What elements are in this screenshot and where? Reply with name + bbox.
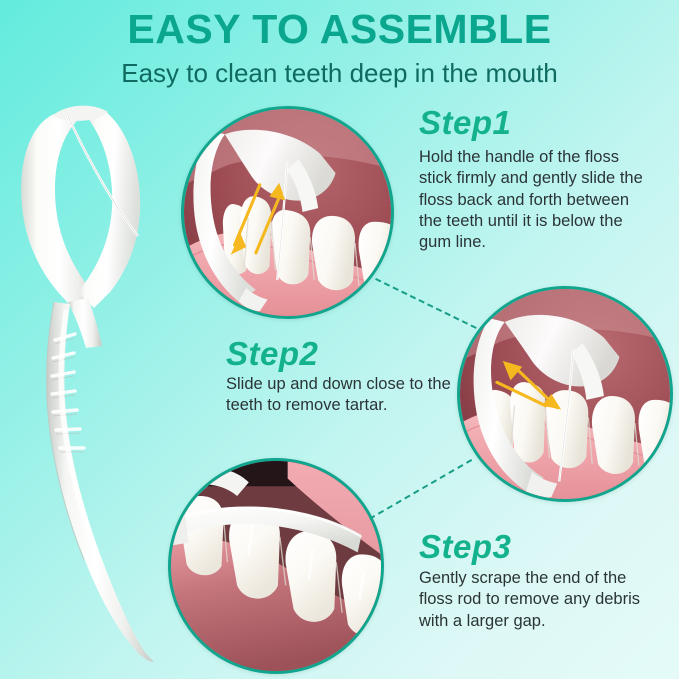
connector-step1-step2 bbox=[375, 278, 477, 329]
connector-step3-step2 bbox=[369, 459, 472, 520]
step1-photo-circle bbox=[181, 106, 394, 319]
step3-body: Gently scrape the end of the floss rod t… bbox=[419, 568, 659, 632]
step3-text-block: Step3 Gently scrape the end of the floss… bbox=[419, 530, 659, 632]
step2-body: Slide up and down close to the teeth to … bbox=[226, 374, 462, 417]
fork-right-arm bbox=[78, 112, 140, 308]
step3-illustration bbox=[171, 461, 381, 671]
step2-illustration bbox=[460, 289, 670, 499]
step2-text-block: Step2 Slide up and down close to the tee… bbox=[226, 337, 462, 417]
step1-text-block: Step1 Hold the handle of the floss stick… bbox=[419, 106, 655, 254]
step1-heading: Step1 bbox=[419, 106, 655, 141]
tooth-4 bbox=[592, 396, 635, 474]
step3-heading: Step3 bbox=[419, 530, 659, 565]
fork-neck bbox=[68, 298, 102, 348]
step3-photo-circle bbox=[168, 458, 384, 674]
step2-photo-circle bbox=[457, 286, 673, 502]
step2-heading: Step2 bbox=[226, 337, 462, 372]
floss-pick-illustration bbox=[6, 96, 166, 676]
floss-pick-product-image bbox=[6, 96, 166, 676]
tooth-2 bbox=[510, 382, 545, 462]
step1-illustration bbox=[184, 109, 391, 316]
page-title: EASY TO ASSEMBLE bbox=[0, 6, 679, 53]
fork-left-arm bbox=[21, 114, 94, 312]
tooth-4 bbox=[312, 216, 355, 290]
upper-shadow-strip bbox=[171, 461, 381, 486]
page-subtitle: Easy to clean teeth deep in the mouth bbox=[0, 58, 679, 89]
step1-body: Hold the handle of the floss stick firml… bbox=[419, 147, 655, 254]
